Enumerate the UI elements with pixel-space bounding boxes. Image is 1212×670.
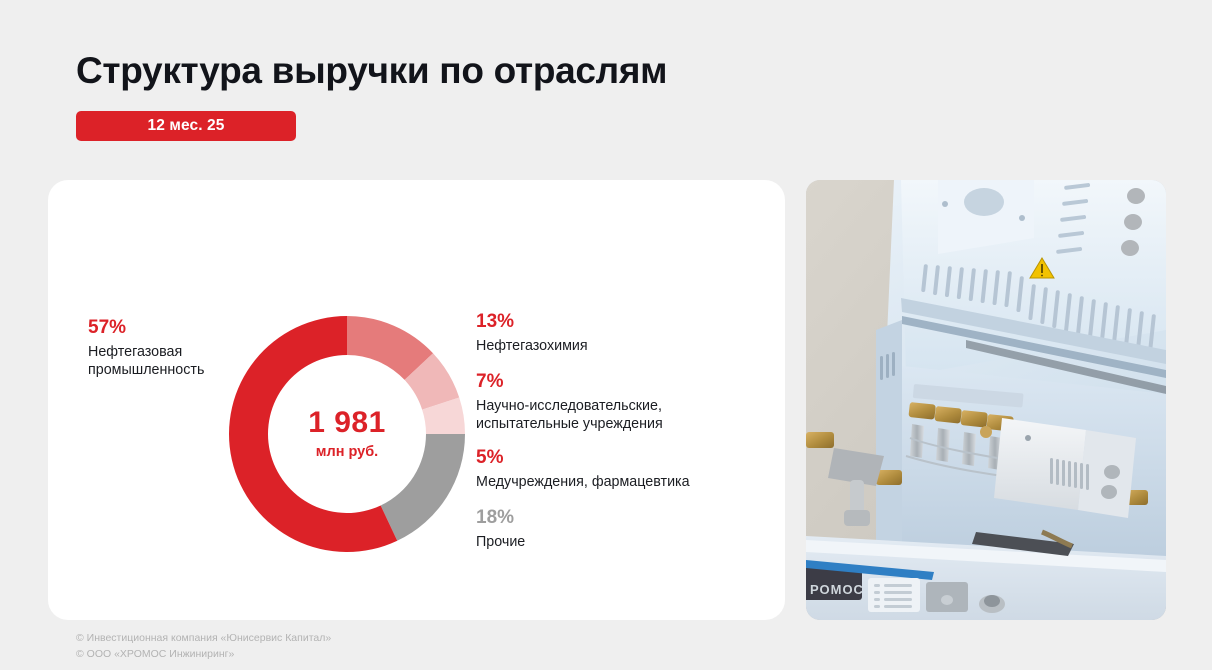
legend-percent: 13% <box>476 312 776 331</box>
legend-percent: 7% <box>476 372 776 391</box>
legend-item-other: 18% Прочие <box>476 508 776 552</box>
page-title: Структура выручки по отраслям <box>76 50 667 92</box>
equipment-photo: РОМОС <box>806 180 1166 620</box>
legend-item-oil-gas-industry: 57% Нефтегазовая промышленность <box>88 318 278 380</box>
legend-percent: 57% <box>88 318 278 337</box>
legend-item-medical-pharma: 5% Медучреждения, фармацевтика <box>476 448 776 492</box>
footer-line-2: © ООО «ХРОМОС Инжиниринг» <box>76 647 331 663</box>
legend-label: Медучреждения, фармацевтика <box>476 474 776 492</box>
legend-label: Прочие <box>476 534 776 552</box>
legend-item-petrochemistry: 13% Нефтегазохимия <box>476 312 776 356</box>
legend-item-research-institutions: 7% Научно-исследовательские, испытательн… <box>476 372 776 434</box>
footer-copyright: © Инвестиционная компания «Юнисервис Кап… <box>76 631 331 663</box>
revenue-structure-card: 1 981 млн руб. 57% Нефтегазовая промышле… <box>48 180 785 620</box>
legend-percent: 18% <box>476 508 776 527</box>
legend-label: Нефтегазохимия <box>476 338 776 356</box>
svg-text:РОМОС: РОМОС <box>810 582 864 597</box>
legend-percent: 5% <box>476 448 776 467</box>
footer-line-1: © Инвестиционная компания «Юнисервис Кап… <box>76 631 331 647</box>
legend-label: Нефтегазовая промышленность <box>88 344 278 380</box>
legend-label: Научно-исследовательские, испытательные … <box>476 398 776 434</box>
donut-segment <box>381 434 465 541</box>
period-badge: 12 мес. 25 <box>76 111 296 141</box>
